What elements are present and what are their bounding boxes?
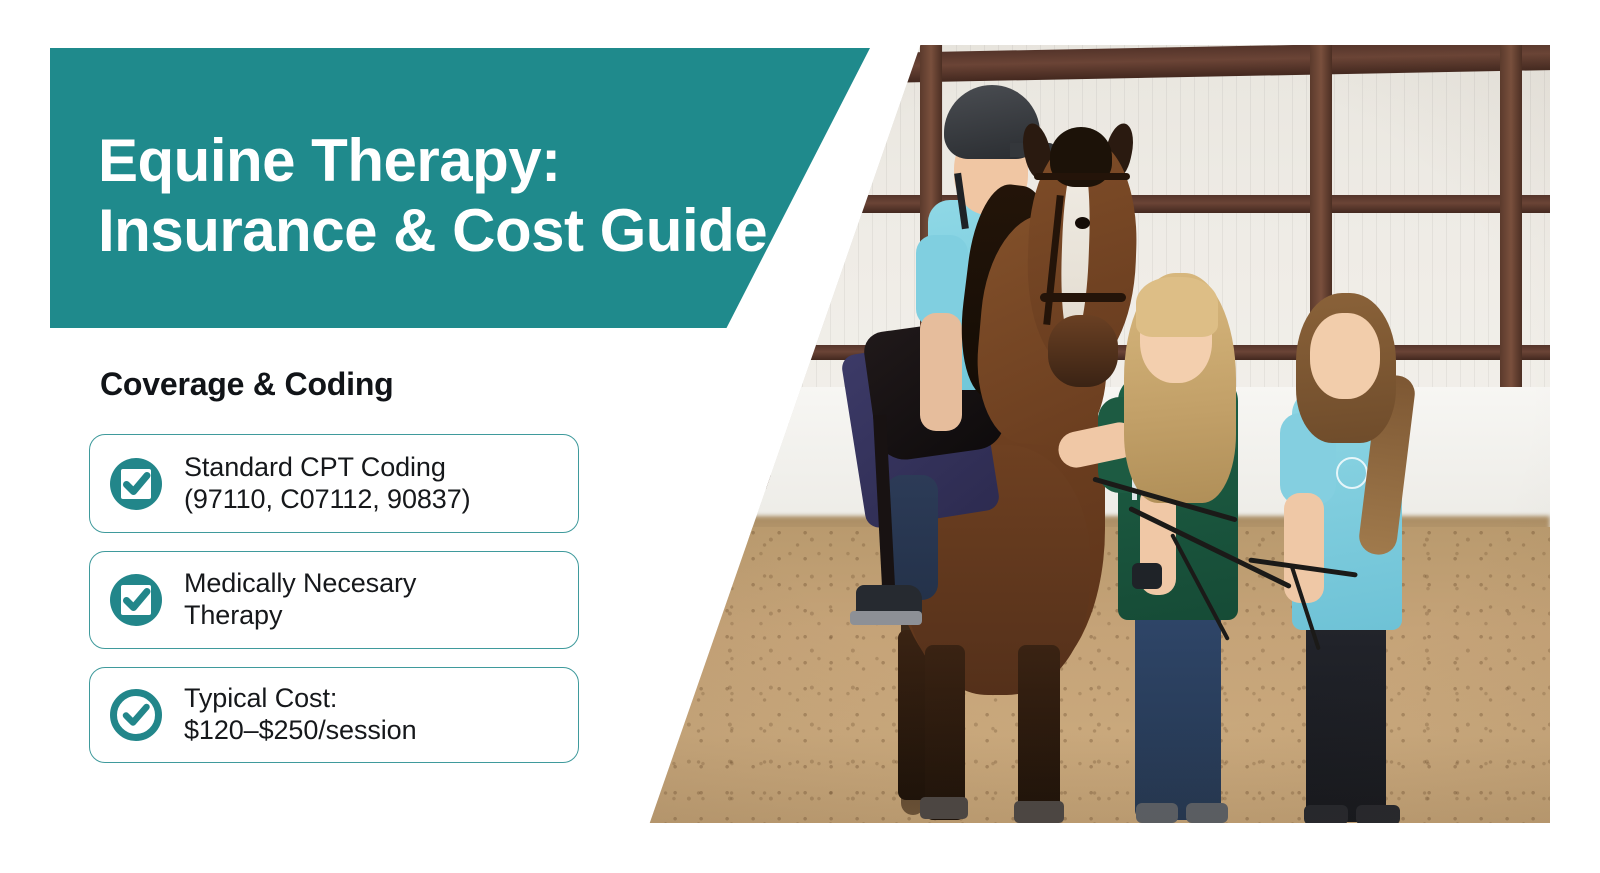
check-circle-outline-icon [108,687,164,743]
coverage-card-text: Typical Cost: $120–$250/session [184,683,417,746]
infographic-canvas: Equine Therapy: Insurance & Cost Guide C… [0,0,1600,873]
check-square-filled-icon [108,456,164,512]
coverage-card-line1: Standard CPT Coding [184,452,471,484]
coverage-card-medically-necessary[interactable]: Medically Necesary Therapy [89,551,579,649]
page-title: Equine Therapy: Insurance & Cost Guide [98,126,858,266]
check-square-filled-icon [108,572,164,628]
section-heading: Coverage & Coding [100,366,394,403]
page-title-line1: Equine Therapy: [98,127,561,194]
coverage-card-line2: (97110, C07112, 90837) [184,484,471,516]
coverage-card-line1: Typical Cost: [184,683,417,715]
coverage-card-text: Medically Necesary Therapy [184,568,416,631]
coverage-card-cpt-coding[interactable]: Standard CPT Coding (97110, C07112, 9083… [89,434,579,533]
coverage-card-text: Standard CPT Coding (97110, C07112, 9083… [184,452,471,515]
page-title-line2: Insurance & Cost Guide [98,196,858,266]
coverage-card-line1: Medically Necesary [184,568,416,600]
coverage-card-line2: $120–$250/session [184,715,417,747]
coverage-card-line2: Therapy [184,600,416,632]
coverage-card-list: Standard CPT Coding (97110, C07112, 9083… [89,434,581,781]
coverage-card-typical-cost[interactable]: Typical Cost: $120–$250/session [89,667,579,763]
